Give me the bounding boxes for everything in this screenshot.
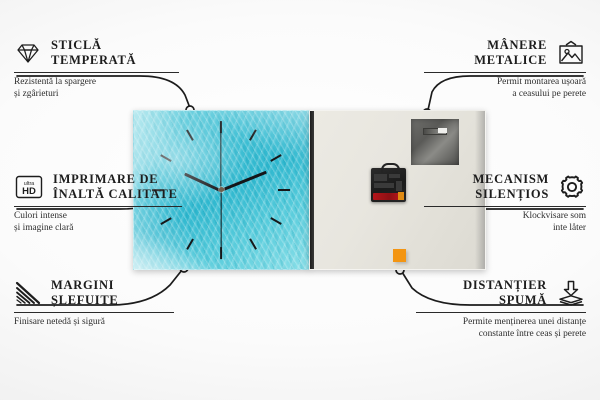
ultra-hd-icon-main: HD <box>22 186 36 197</box>
clock-tick <box>186 239 194 250</box>
clock-tick <box>249 130 257 141</box>
movement-panel-d <box>396 181 402 191</box>
clock-hour-hand <box>184 172 222 192</box>
clock-movement-box <box>371 168 406 202</box>
callout-rule <box>424 72 586 73</box>
arrow-down-stack-icon <box>556 280 586 306</box>
polished-edge-icon <box>14 281 42 305</box>
callout-title-line1: IMPRIMARE DE <box>53 172 178 187</box>
gear-icon <box>558 174 586 200</box>
callout-header: MÂNERE METALICE <box>424 38 586 69</box>
movement-panel-c <box>374 183 394 188</box>
callout-high-quality-print: ultra HD IMPRIMARE DE ÎNALTĂ CALITATE Cu… <box>14 172 182 234</box>
callout-metal-handles: MÂNERE METALICE Permit montarea ușoară a… <box>424 38 586 100</box>
clock-minute-hand <box>220 171 267 192</box>
movement-panel-b <box>389 174 400 178</box>
callout-sub-line1: Culori intense <box>14 210 182 222</box>
callout-tempered-glass: STICLĂ TEMPERATĂ Rezistentă la spargere … <box>14 38 179 100</box>
callout-title-line2: ÎNALTĂ CALITATE <box>53 187 178 202</box>
callout-title: DISTANȚIER SPUMĂ <box>463 278 547 309</box>
callout-sub-line1: Finisare netedă și sigură <box>14 316 174 328</box>
callout-header: DISTANȚIER SPUMĂ <box>416 278 586 309</box>
diamond-icon <box>14 41 42 65</box>
clock-second-hand <box>220 191 221 253</box>
callout-title-line1: MARGINI <box>51 278 118 293</box>
callout-sub-line2: inte låter <box>424 222 586 234</box>
callout-title-line1: MÂNERE <box>474 38 547 53</box>
callout-title: MECANISM SILENȚIOS <box>473 172 549 203</box>
callout-sub-line2: și imagine clară <box>14 222 182 234</box>
clock-tick <box>161 155 172 163</box>
callout-sub-line2: și zgârieturi <box>14 88 179 100</box>
callout-title-line2: TEMPERATĂ <box>51 53 136 68</box>
ultra-hd-icon: ultra HD <box>14 174 44 200</box>
callout-subtitle: Finisare netedă și sigură <box>14 316 174 328</box>
callout-subtitle: Klockvisare som inte låter <box>424 210 586 234</box>
callout-polished-edges: MARGINI ȘLEFUITE Finisare netedă și sigu… <box>14 278 174 328</box>
callout-title: MARGINI ȘLEFUITE <box>51 278 118 309</box>
infographic-canvas: STICLĂ TEMPERATĂ Rezistentă la spargere … <box>0 0 600 400</box>
callout-title-line1: STICLĂ <box>51 38 136 53</box>
clock-tick <box>278 189 290 191</box>
callout-subtitle: Permit montarea ușoară a ceasului pe per… <box>424 76 586 100</box>
callout-rule <box>424 206 586 207</box>
callout-title: STICLĂ TEMPERATĂ <box>51 38 136 69</box>
clock-tick <box>249 239 257 250</box>
callout-title-line1: MECANISM <box>473 172 549 187</box>
clock-tick <box>270 218 281 226</box>
callout-sub-line1: Klockvisare som <box>424 210 586 222</box>
callout-silent-mechanism: MECANISM SILENȚIOS Klockvisare som inte … <box>424 172 586 234</box>
clock-second-hand-tail <box>220 133 221 191</box>
callout-sub-line1: Permit montarea ușoară <box>424 76 586 88</box>
callout-foam-spacer: DISTANȚIER SPUMĂ Permite menținerea unei… <box>416 278 586 340</box>
callout-title-line2: SPUMĂ <box>463 293 547 308</box>
callout-title: IMPRIMARE DE ÎNALTĂ CALITATE <box>53 172 178 203</box>
clock-tick <box>270 155 281 163</box>
callout-subtitle: Permite menținerea unei distanțe constan… <box>416 316 586 340</box>
callout-title: MÂNERE METALICE <box>474 38 547 69</box>
clock-tick <box>186 130 194 141</box>
callout-sub-line2: a ceasului pe perete <box>424 88 586 100</box>
callout-title-line2: ȘLEFUITE <box>51 293 118 308</box>
callout-sub-line1: Permite menținerea unei distanțe <box>416 316 586 328</box>
callout-header: MECANISM SILENȚIOS <box>424 172 586 203</box>
picture-frame-hook-icon <box>556 40 586 66</box>
callout-rule <box>14 72 179 73</box>
callout-title-line1: DISTANȚIER <box>463 278 547 293</box>
clock-center-pivot <box>219 187 224 192</box>
callout-rule <box>416 312 586 313</box>
movement-panel-a <box>374 174 387 181</box>
callout-sub-line2: constante între ceas și perete <box>416 328 586 340</box>
clock-battery <box>373 193 403 200</box>
callout-rule <box>14 312 174 313</box>
callout-title-line2: METALICE <box>474 53 547 68</box>
foam-spacer-square <box>393 249 406 262</box>
callout-header: ultra HD IMPRIMARE DE ÎNALTĂ CALITATE <box>14 172 182 203</box>
callout-subtitle: Rezistentă la spargere și zgârieturi <box>14 76 179 100</box>
callout-title-line2: SILENȚIOS <box>473 187 549 202</box>
hanger-keyhole-slot <box>423 128 447 135</box>
callout-rule <box>14 206 182 207</box>
callout-subtitle: Culori intense și imagine clară <box>14 210 182 234</box>
callout-header: STICLĂ TEMPERATĂ <box>14 38 179 69</box>
movement-hanging-loop <box>381 163 400 173</box>
clock-tick <box>220 121 222 133</box>
callout-header: MARGINI ȘLEFUITE <box>14 278 174 309</box>
callout-sub-line1: Rezistentă la spargere <box>14 76 179 88</box>
metal-hanger-plate <box>411 119 459 165</box>
